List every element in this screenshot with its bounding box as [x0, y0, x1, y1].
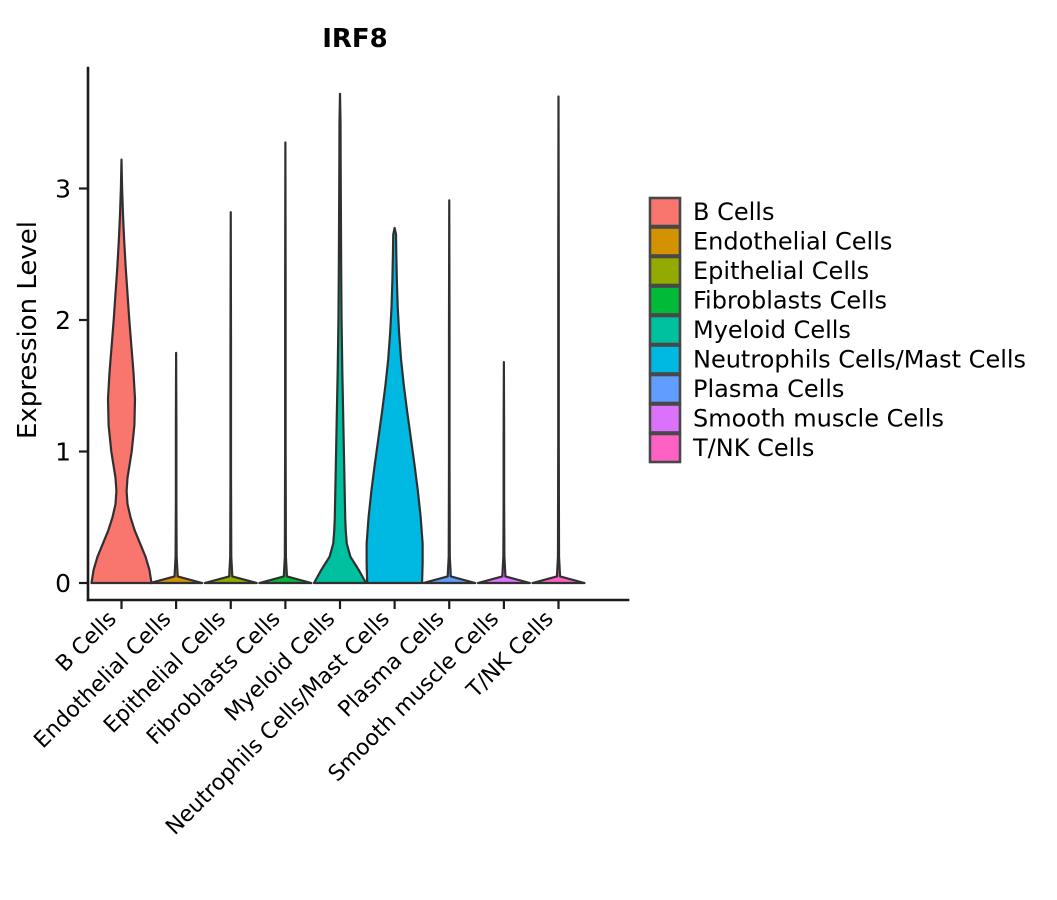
y-axis-title: Expression Level	[13, 221, 43, 439]
legend-swatch[interactable]	[650, 228, 680, 256]
legend-swatch[interactable]	[650, 198, 680, 226]
y-tick-label: 3	[55, 175, 71, 204]
violin-plot-figure: IRF8 0123 B CellsEndothelial CellsEpithe…	[0, 0, 1057, 900]
legend-label: Epithelial Cells	[693, 257, 869, 285]
legend-swatch[interactable]	[650, 257, 680, 285]
legend-label: B Cells	[693, 198, 774, 226]
legend-label: Endothelial Cells	[693, 228, 892, 256]
legend-swatch[interactable]	[650, 287, 680, 315]
legend-label: Smooth muscle Cells	[693, 405, 944, 433]
legend-swatch[interactable]	[650, 405, 680, 433]
figure-background	[0, 0, 1057, 900]
legend-swatch[interactable]	[650, 346, 680, 374]
legend-label: Plasma Cells	[693, 375, 844, 403]
legend-label: Myeloid Cells	[693, 316, 851, 344]
legend-swatch[interactable]	[650, 434, 680, 462]
y-tick-label: 0	[55, 569, 71, 598]
legend-label: Fibroblasts Cells	[693, 287, 887, 315]
legend-label: T/NK Cells	[692, 434, 814, 462]
plot-canvas: IRF8 0123 B CellsEndothelial CellsEpithe…	[0, 0, 1057, 900]
legend-swatch[interactable]	[650, 316, 680, 344]
y-tick-label: 2	[55, 306, 71, 335]
legend-label: Neutrophils Cells/Mast Cells	[693, 346, 1026, 374]
y-tick-label: 1	[55, 438, 71, 467]
page-title: IRF8	[322, 24, 388, 54]
legend-swatch[interactable]	[650, 375, 680, 403]
